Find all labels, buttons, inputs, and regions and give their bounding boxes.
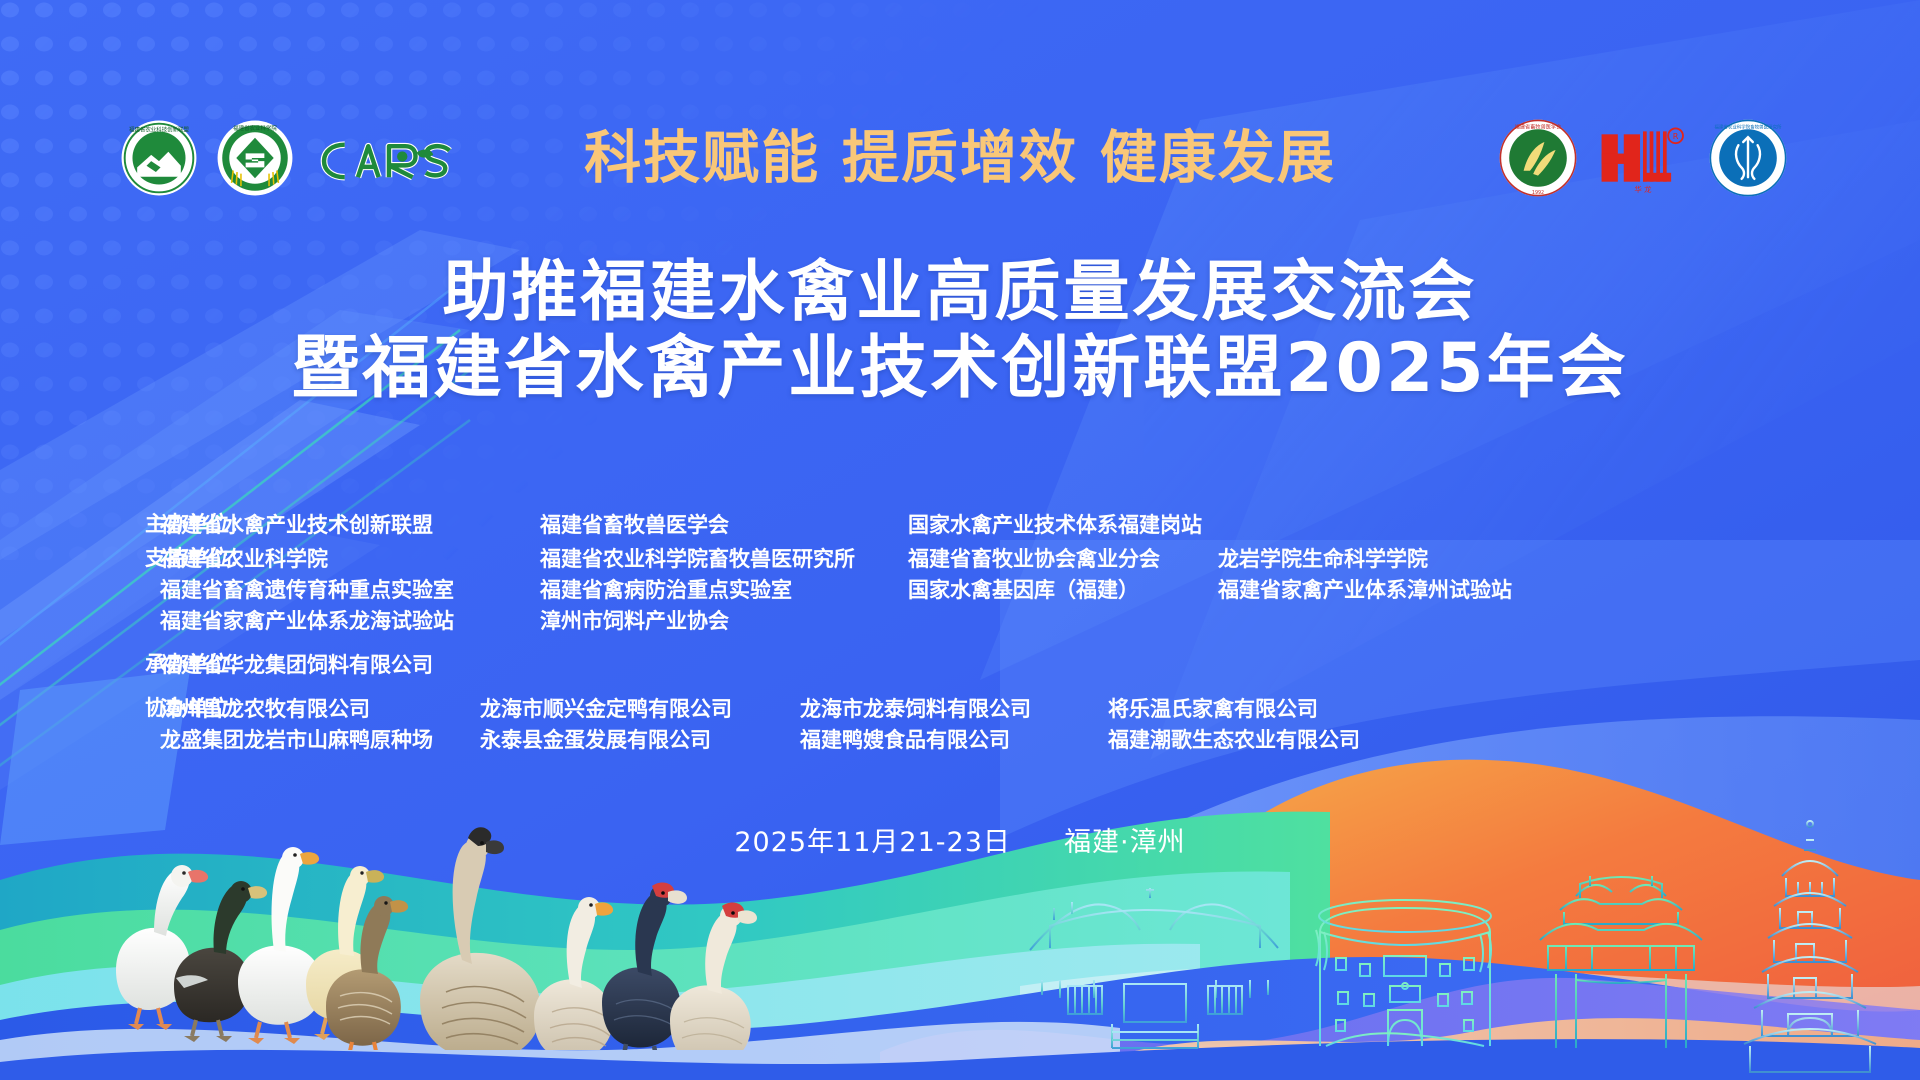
temple-landmark-icon bbox=[1028, 888, 1282, 1048]
host-units-label: 主办单位： bbox=[0, 508, 160, 539]
goose-white-grey bbox=[534, 897, 613, 1050]
support-unit-1-4: 龙岩学院生命科学学院 bbox=[1218, 543, 1518, 573]
support-unit-3-1: 福建省家禽产业体系龙海试验站 bbox=[160, 605, 540, 635]
duck-beige-muscovy bbox=[670, 903, 757, 1050]
coorganizer-units-group: 协办单位： 漳州昌龙农牧有限公司 龙海市顺兴金定鸭有限公司 龙海市龙泰饲料有限公… bbox=[0, 692, 1920, 754]
support-unit-2-1: 福建省畜禽遗传育种重点实验室 bbox=[160, 574, 540, 604]
organizer-unit-1: 福建省华龙集团饲料有限公司 bbox=[160, 649, 540, 679]
coorganizer-unit-1-4: 将乐温氏家禽有限公司 bbox=[1108, 693, 1408, 723]
coorganizer-unit-2-2: 永泰县金蛋发展有限公司 bbox=[480, 724, 800, 754]
paifang-gate-landmark-icon bbox=[1536, 876, 1706, 1048]
support-unit-1-3: 福建省畜牧业协会禽业分会 bbox=[908, 543, 1218, 573]
host-unit-3: 国家水禽产业技术体系福建岗站 bbox=[908, 509, 1218, 539]
coorganizer-unit-1-3: 龙海市龙泰饲料有限公司 bbox=[800, 693, 1108, 723]
coorganizer-unit-2-3: 福建鸭嫂食品有限公司 bbox=[800, 724, 1108, 754]
title-block: 助推福建水禽业高质量发展交流会 暨福建省水禽产业技术创新联盟2025年会 bbox=[0, 255, 1920, 409]
conference-banner: 福建省农业科技创新联盟 福建省农业科学院 bbox=[0, 0, 1920, 1080]
units-block: 主办单位： 福建省水禽产业技术创新联盟 福建省畜牧兽医学会 国家水禽产业技术体系… bbox=[0, 508, 1920, 757]
coorganizer-units-row: 龙盛集团龙岩市山麻鸭原种场 永泰县金蛋发展有限公司 福建鸭嫂食品有限公司 福建潮… bbox=[160, 723, 1920, 754]
support-unit-2-3: 国家水禽基因库（福建） bbox=[908, 574, 1218, 604]
coorganizer-unit-2-1: 龙盛集团龙岩市山麻鸭原种场 bbox=[160, 724, 480, 754]
event-slogan: 科技赋能 提质增效 健康发展 bbox=[0, 130, 1920, 187]
organizer-units-group: 承办单位： 福建省华龙集团饲料有限公司 bbox=[0, 648, 1920, 679]
goose-white bbox=[238, 847, 322, 1044]
event-date: 2025年11月21-23日 bbox=[734, 827, 1011, 858]
coorganizer-unit-1-1: 漳州昌龙农牧有限公司 bbox=[160, 693, 480, 723]
event-dateline: 2025年11月21-23日 福建·漳州 bbox=[0, 820, 1920, 859]
host-units-group: 主办单位： 福建省水禽产业技术创新联盟 福建省畜牧兽医学会 国家水禽产业技术体系… bbox=[0, 508, 1920, 539]
organizer-units-label: 承办单位： bbox=[0, 648, 160, 679]
coorganizer-units-label: 协办单位： bbox=[0, 692, 160, 754]
support-units-group: 支持单位： 福建省农业科学院 福建省农业科学院畜牧兽医研究所 福建省畜牧业协会禽… bbox=[0, 542, 1920, 635]
tulou-landmark-icon bbox=[1316, 900, 1491, 1046]
support-units-row: 福建省畜禽遗传育种重点实验室 福建省禽病防治重点实验室 国家水禽基因库（福建） … bbox=[160, 573, 1920, 604]
svg-text:1992: 1992 bbox=[1532, 190, 1544, 196]
coorganizer-unit-1-2: 龙海市顺兴金定鸭有限公司 bbox=[480, 693, 800, 723]
support-unit-1-1: 福建省农业科学院 bbox=[160, 543, 540, 573]
support-unit-2-4: 福建省家禽产业体系漳州试验站 bbox=[1218, 574, 1518, 604]
host-unit-1: 福建省水禽产业技术创新联盟 bbox=[160, 509, 540, 539]
page-title-line1: 助推福建水禽业高质量发展交流会 bbox=[0, 255, 1920, 329]
host-units-row: 福建省水禽产业技术创新联盟 福建省畜牧兽医学会 国家水禽产业技术体系福建岗站 bbox=[160, 508, 1920, 539]
coorganizer-units-row: 漳州昌龙农牧有限公司 龙海市顺兴金定鸭有限公司 龙海市龙泰饲料有限公司 将乐温氏… bbox=[160, 692, 1920, 723]
host-unit-2: 福建省畜牧兽医学会 bbox=[540, 509, 908, 539]
support-unit-3-2: 漳州市饲料产业协会 bbox=[540, 605, 908, 635]
page-title-line2: 暨福建省水禽产业技术创新联盟2025年会 bbox=[0, 329, 1920, 409]
support-units-label: 支持单位： bbox=[0, 542, 160, 635]
organizer-units-row: 福建省华龙集团饲料有限公司 bbox=[160, 648, 1920, 679]
support-unit-2-2: 福建省禽病防治重点实验室 bbox=[540, 574, 908, 604]
support-unit-1-2: 福建省农业科学院畜牧兽医研究所 bbox=[540, 543, 908, 573]
goose-grey-large bbox=[420, 827, 541, 1050]
coorganizer-unit-2-4: 福建潮歌生态农业有限公司 bbox=[1108, 724, 1408, 754]
support-units-row: 福建省家禽产业体系龙海试验站 漳州市饲料产业协会 bbox=[160, 604, 1920, 635]
support-units-row: 福建省农业科学院 福建省农业科学院畜牧兽医研究所 福建省畜牧业协会禽业分会 龙岩… bbox=[160, 542, 1920, 573]
